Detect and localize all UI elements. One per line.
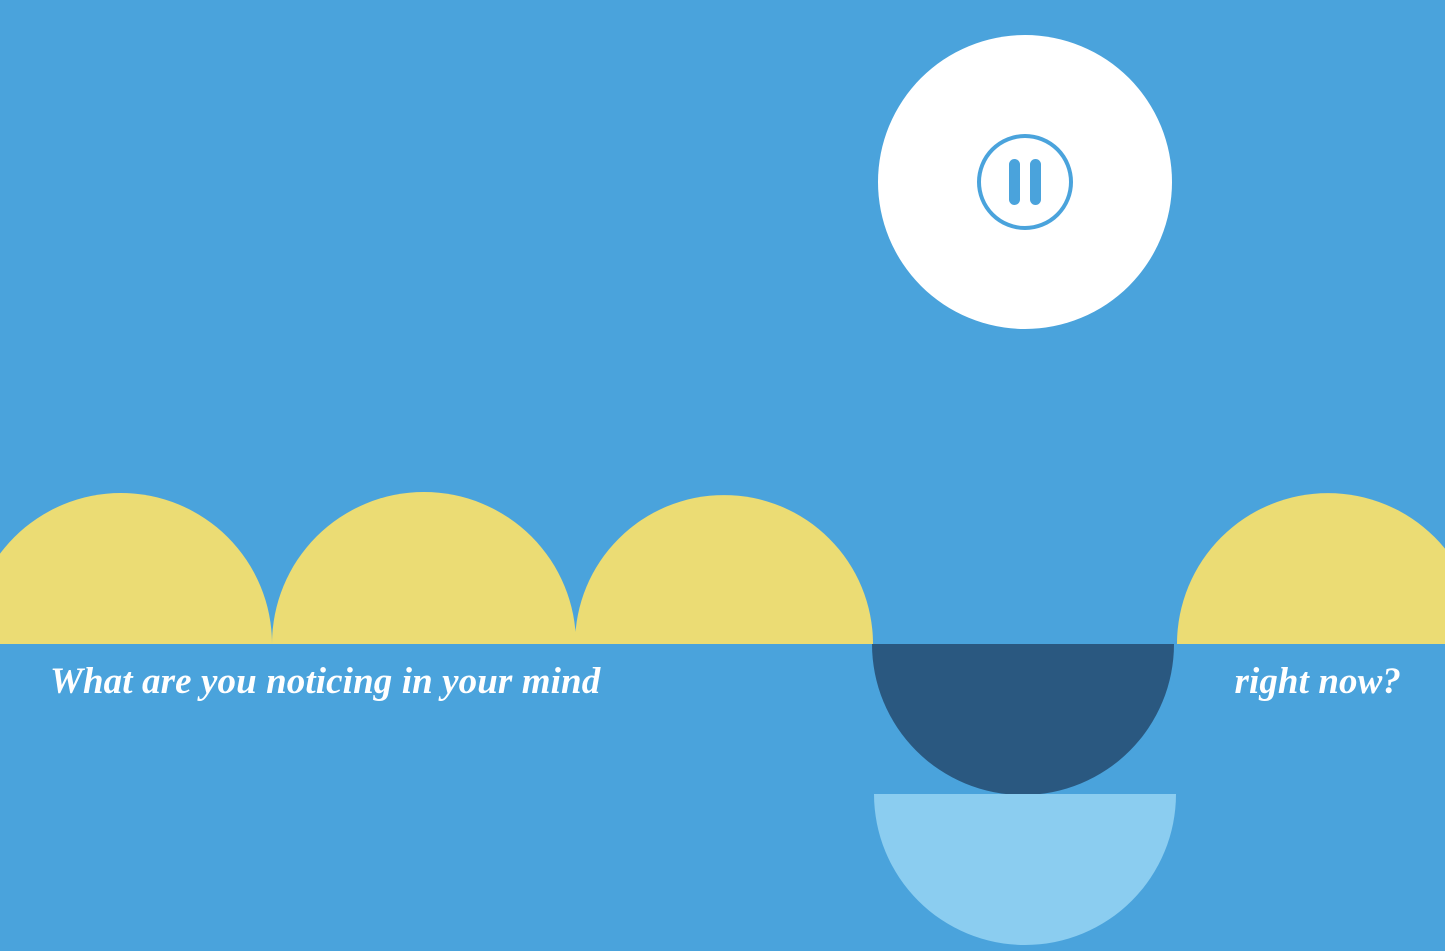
pause-icon	[977, 134, 1073, 230]
hill-2-semicircle	[272, 492, 576, 644]
hill-1-semicircle	[0, 493, 272, 644]
shape-composition	[0, 0, 1445, 951]
pause-button[interactable]	[878, 35, 1172, 329]
hill-group	[0, 492, 1445, 644]
pause-bar-left	[1009, 159, 1020, 205]
scene-canvas: What are you noticing in your mind right…	[0, 0, 1445, 951]
reflection-semicircle	[874, 794, 1176, 945]
pause-bar-right	[1030, 159, 1041, 205]
basin-semicircle	[872, 644, 1174, 795]
hill-3-semicircle	[575, 495, 873, 644]
hill-4-semicircle	[1177, 493, 1445, 644]
